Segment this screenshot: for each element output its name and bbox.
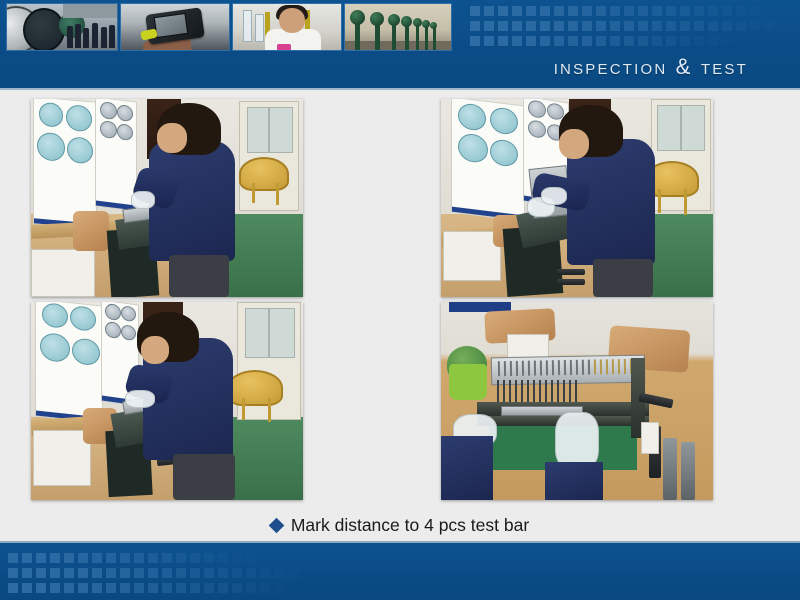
photo-top-right[interactable] xyxy=(441,99,713,297)
dot-row xyxy=(8,553,312,563)
dot-row xyxy=(470,36,788,46)
slide: Inspection & Test xyxy=(0,0,800,600)
slide-body xyxy=(0,90,800,541)
photo-top-left[interactable] xyxy=(31,99,303,297)
page-title: Inspection & Test xyxy=(554,54,748,80)
diamond-bullet-icon xyxy=(269,517,285,533)
thumbnail-industrial-tanks xyxy=(6,3,118,51)
footer-topline xyxy=(0,541,800,543)
footer-dot-pattern xyxy=(8,553,348,593)
caption-text: Mark distance to 4 pcs test bar xyxy=(291,515,529,536)
thumbnail-lab-technician xyxy=(232,3,342,51)
dot-row xyxy=(470,21,788,31)
header-dot-pattern xyxy=(470,6,800,50)
header-thumbnail-strip xyxy=(6,3,452,51)
slide-header: Inspection & Test xyxy=(0,0,800,90)
photo-bottom-right[interactable] xyxy=(441,302,713,500)
thumbnail-handheld-tester xyxy=(120,3,230,51)
dot-row xyxy=(8,568,312,578)
slide-footer xyxy=(0,541,800,600)
slide-caption: Mark distance to 4 pcs test bar xyxy=(0,510,800,540)
dot-row xyxy=(470,6,788,16)
thumbnail-green-posts xyxy=(344,3,452,51)
dot-row xyxy=(8,583,312,593)
photo-bottom-left[interactable] xyxy=(31,302,303,500)
